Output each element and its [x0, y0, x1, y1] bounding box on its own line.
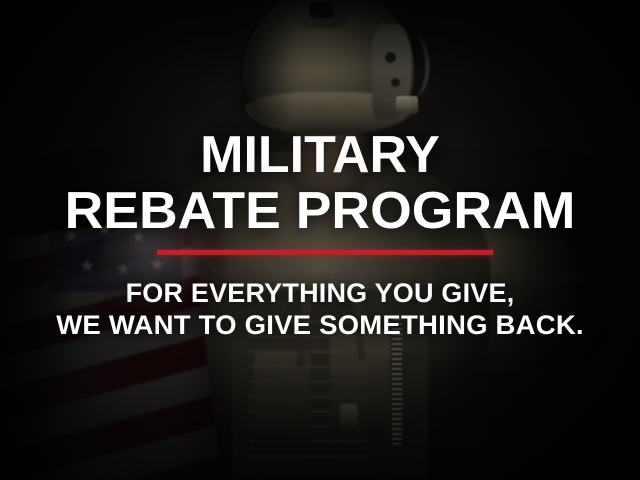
subtitle-line-1: FOR EVERYTHING YOU GIVE, [0, 280, 640, 307]
page-title-line-1: MILITARY [0, 129, 640, 181]
page-title-line-2: REBATE PROGRAM [0, 185, 640, 237]
military-rebate-banner: ★ ★ ★ ★ ★ ★ MILITARY REBATE PROGRAM FOR … [0, 0, 640, 480]
subtitle-line-2: WE WANT TO GIVE SOMETHING BACK. [0, 312, 640, 339]
red-divider-rule [157, 250, 493, 255]
text-overlay: MILITARY REBATE PROGRAM FOR EVERYTHING Y… [0, 0, 640, 480]
